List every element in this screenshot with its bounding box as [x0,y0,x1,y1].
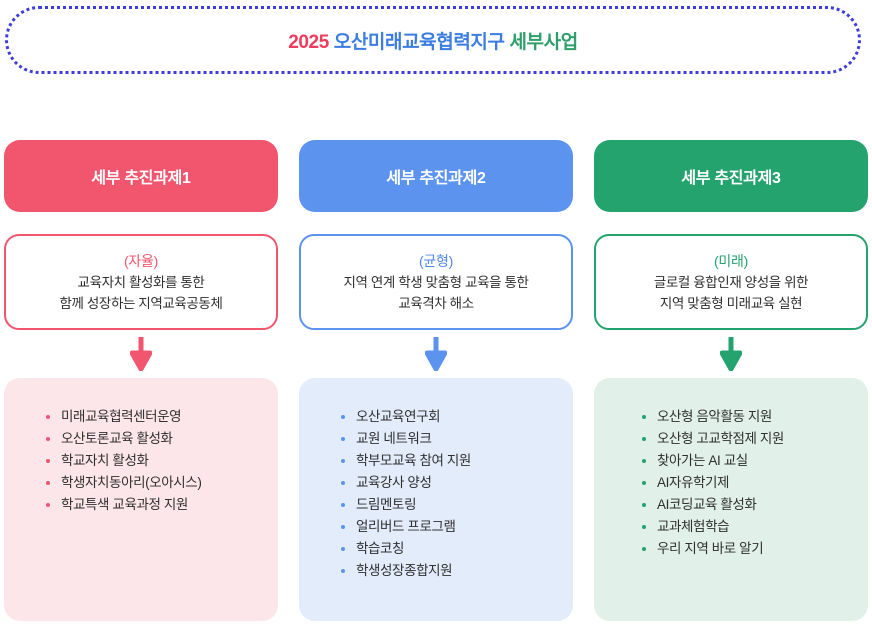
list-item: 학교특색 교육과정 지원 [46,494,278,516]
task-1-header: 세부 추진과제1 [4,140,278,212]
list-item: 학생자치동아리(오아시스) [46,472,278,494]
list-item: 학교자치 활성화 [46,450,278,472]
task-2-list-box: 오산교육연구회 교원 네트워크 학부모교육 참여 지원 교육강사 양성 드림멘토… [299,378,573,621]
task-1-list-box: 미래교육협력센터운영 오산토론교육 활성화 학교자치 활성화 학생자치동아리(오… [4,378,278,621]
task-3-goal-line-1: 글로컬 융합인재 양성을 위한 [654,272,808,293]
list-item: 교육강사 양성 [341,472,573,494]
task-3-goal-tag: (미래) [714,250,748,272]
title-main: 오산미래교육협력지구 [329,32,510,53]
list-item: 미래교육협력센터운영 [46,406,278,428]
list-item: 오산교육연구회 [341,406,573,428]
list-item: 얼리버드 프로그램 [341,516,573,538]
title-suffix: 세부사업 [509,32,577,53]
task-1-list: 미래교육협력센터운영 오산토론교육 활성화 학교자치 활성화 학생자치동아리(오… [4,406,278,516]
arrow-down-icon [720,337,742,371]
task-3-goal-line-2: 지역 맞춤형 미래교육 실현 [660,293,802,314]
task-2-goal-line-1: 지역 연계 학생 맞춤형 교육을 통한 [343,272,528,293]
task-column-1: 세부 추진과제1 (자율) 교육자치 활성화를 통한 함께 성장하는 지역교육공… [4,140,278,621]
list-item: 학부모교육 참여 지원 [341,450,573,472]
task-2-goal-line-2: 교육격차 해소 [398,293,473,314]
task-1-arrow [4,330,278,378]
list-item: AI자유학기제 [642,472,868,494]
task-1-goal-tag: (자율) [124,250,158,272]
arrow-down-icon [425,337,447,371]
list-item: 오산형 음악활동 지원 [642,406,868,428]
arrow-down-icon [130,337,152,371]
list-item: 오산토론교육 활성화 [46,428,278,450]
page-title: 2025 오산미래교육협력지구 세부사업 [288,27,578,54]
task-column-3: 세부 추진과제3 (미래) 글로컬 융합인재 양성을 위한 지역 맞춤형 미래교… [594,140,868,621]
list-item: 드림멘토링 [341,494,573,516]
task-3-list-box: 오산형 음악활동 지원 오산형 고교학점제 지원 찾아가는 AI 교실 AI자유… [594,378,868,621]
task-2-arrow [299,330,573,378]
task-2-header: 세부 추진과제2 [299,140,573,212]
task-2-goal-box: (균형) 지역 연계 학생 맞춤형 교육을 통한 교육격차 해소 [299,234,573,330]
task-1-goal-box: (자율) 교육자치 활성화를 통한 함께 성장하는 지역교육공동체 [4,234,278,330]
list-item: 우리 지역 바로 알기 [642,538,868,560]
list-item: 학습코칭 [341,538,573,560]
task-3-goal-box: (미래) 글로컬 융합인재 양성을 위한 지역 맞춤형 미래교육 실현 [594,234,868,330]
list-item: AI코딩교육 활성화 [642,494,868,516]
task-1-goal-line-1: 교육자치 활성화를 통한 [78,272,205,293]
task-column-2: 세부 추진과제2 (균형) 지역 연계 학생 맞춤형 교육을 통한 교육격차 해… [299,140,573,621]
task-1-goal-line-2: 함께 성장하는 지역교육공동체 [60,293,223,314]
task-3-arrow [594,330,868,378]
list-item: 교과체험학습 [642,516,868,538]
list-item: 찾아가는 AI 교실 [642,450,868,472]
task-2-list: 오산교육연구회 교원 네트워크 학부모교육 참여 지원 교육강사 양성 드림멘토… [299,406,573,582]
task-3-list: 오산형 음악활동 지원 오산형 고교학점제 지원 찾아가는 AI 교실 AI자유… [594,406,868,560]
title-banner: 2025 오산미래교육협력지구 세부사업 [5,6,861,74]
list-item: 오산형 고교학점제 지원 [642,428,868,450]
task-columns: 세부 추진과제1 (자율) 교육자치 활성화를 통한 함께 성장하는 지역교육공… [4,140,868,621]
list-item: 교원 네트워크 [341,428,573,450]
task-3-header: 세부 추진과제3 [594,140,868,212]
task-2-goal-tag: (균형) [419,250,453,272]
title-year: 2025 [288,32,329,53]
list-item: 학생성장종합지원 [341,560,573,582]
